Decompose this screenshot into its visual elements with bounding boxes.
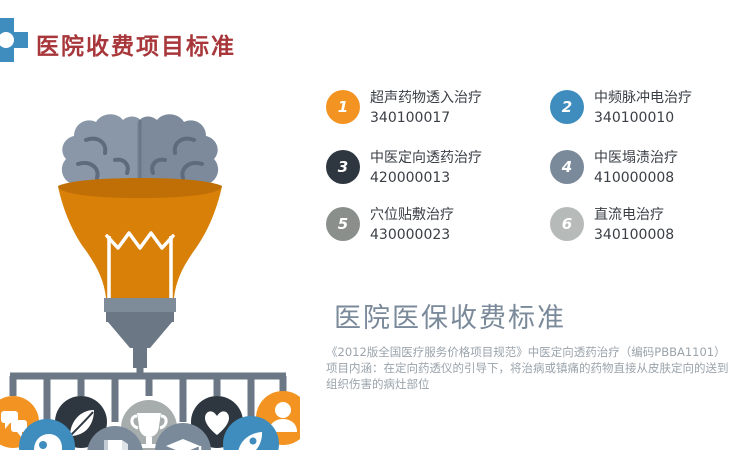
item-number-badge: 3 bbox=[326, 150, 360, 184]
item-text-block: 中频脉冲电治疗 340100010 bbox=[594, 88, 692, 128]
item-text-block: 超声药物透入治疗 340100017 bbox=[370, 88, 482, 128]
item-name: 中医定向透药治疗 bbox=[370, 148, 482, 168]
description-block: 《2012版全国医疗服务价格项目规范》中医定向透药治疗（编码PBBA1101） … bbox=[326, 344, 742, 392]
charge-item[interactable]: 5 穴位贴敷治疗 430000023 bbox=[326, 205, 534, 263]
item-text-block: 中医塌渍治疗 410000008 bbox=[594, 148, 678, 188]
charge-item[interactable]: 1 超声药物透入治疗 340100017 bbox=[326, 88, 534, 146]
item-code: 340100008 bbox=[594, 225, 674, 245]
item-name: 穴位贴敷治疗 bbox=[370, 205, 454, 225]
item-name: 中医塌渍治疗 bbox=[594, 148, 678, 168]
charge-item[interactable]: 3 中医定向透药治疗 420000013 bbox=[326, 148, 534, 206]
item-number-badge: 4 bbox=[550, 150, 584, 184]
charge-item[interactable]: 6 直流电治疗 340100008 bbox=[550, 205, 750, 263]
charge-item[interactable]: 2 中频脉冲电治疗 340100010 bbox=[550, 88, 750, 146]
item-text-block: 穴位贴敷治疗 430000023 bbox=[370, 205, 454, 245]
item-number-badge: 5 bbox=[326, 207, 360, 241]
charge-item[interactable]: 4 中医塌渍治疗 410000008 bbox=[550, 148, 750, 206]
item-name: 直流电治疗 bbox=[594, 205, 674, 225]
item-code: 410000008 bbox=[594, 168, 678, 188]
item-code: 430000023 bbox=[370, 225, 454, 245]
section-heading: 医院医保收费标准 bbox=[334, 296, 566, 335]
description-line-3: 组织伤害的病灶部位 bbox=[326, 376, 742, 392]
medical-cross-icon bbox=[0, 18, 28, 62]
bulb-base-icon bbox=[104, 298, 176, 368]
item-text-block: 中医定向透药治疗 420000013 bbox=[370, 148, 482, 188]
item-code: 420000013 bbox=[370, 168, 482, 188]
item-number-badge: 6 bbox=[550, 207, 584, 241]
item-code: 340100017 bbox=[370, 108, 482, 128]
lightbulb-icon bbox=[58, 178, 222, 298]
item-name: 中频脉冲电治疗 bbox=[594, 88, 692, 108]
charge-item-grid: 1 超声药物透入治疗 340100017 2 中频脉冲电治疗 340100010… bbox=[326, 88, 742, 268]
page-title: 医院收费项目标准 bbox=[36, 27, 236, 61]
item-number-badge: 2 bbox=[550, 90, 584, 124]
item-code: 340100010 bbox=[594, 108, 692, 128]
description-line-1: 《2012版全国医疗服务价格项目规范》中医定向透药治疗（编码PBBA1101） bbox=[326, 344, 742, 360]
brain-lightbulb-illustration bbox=[0, 60, 300, 450]
item-name: 超声药物透入治疗 bbox=[370, 88, 482, 108]
item-text-block: 直流电治疗 340100008 bbox=[594, 205, 674, 245]
description-line-2: 项目内涵：在定向药透仪的引导下，将治病或镇痛的药物直接从皮肤定向的送到 bbox=[326, 360, 742, 376]
item-number-badge: 1 bbox=[326, 90, 360, 124]
